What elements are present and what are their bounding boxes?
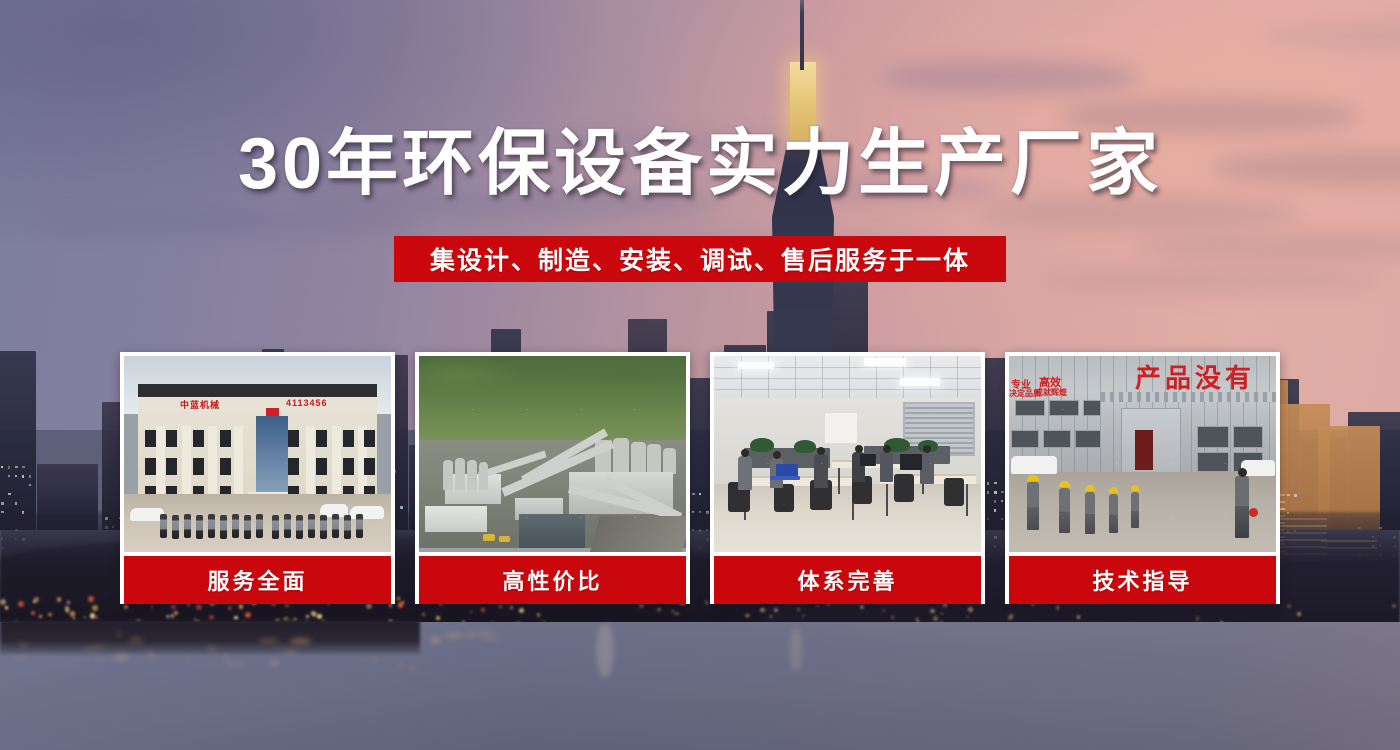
hq-sign-text: 中蓝机械: [180, 398, 220, 411]
feature-card[interactable]: 体系完善: [710, 352, 985, 604]
company-headquarters-photo: 中蓝机械 4113456: [124, 356, 391, 552]
hq-phone-text: 4113456: [286, 398, 328, 408]
production-plant-aerial-photo: [419, 356, 686, 552]
office-interior-photo: [714, 356, 981, 552]
feature-card-caption-text: 服务全面: [207, 564, 307, 596]
tower-antenna: [800, 0, 804, 70]
feature-card-caption: 技术指导: [1009, 556, 1276, 604]
feature-card-caption: 服务全面: [124, 556, 391, 604]
factory-slogan-mid-sub: 成就辉煌: [1035, 387, 1067, 398]
feature-card-caption-text: 体系完善: [797, 564, 897, 596]
feature-card-caption: 高性价比: [419, 556, 686, 604]
feature-card[interactable]: 高性价比: [415, 352, 690, 604]
hero-banner: 30年环保设备实力生产厂家 集设计、制造、安装、调试、售后服务于一体 中蓝机械 …: [0, 0, 1400, 750]
feature-card-list: 中蓝机械 4113456 服务全面: [120, 352, 1280, 604]
workshop-team-briefing-photo: 产品没有 专业 决定品质 高效 成就辉煌: [1009, 356, 1276, 552]
feature-card-caption: 体系完善: [714, 556, 981, 604]
page-title: 30年环保设备实力生产厂家: [0, 128, 1400, 200]
feature-card-caption-text: 高性价比: [502, 564, 602, 596]
subtitle-text: 集设计、制造、安装、调试、售后服务于一体: [430, 241, 970, 277]
flag-icon: [266, 408, 279, 416]
factory-headline-text: 产品没有: [1135, 358, 1255, 395]
feature-card-caption-text: 技术指导: [1092, 564, 1192, 596]
feature-card[interactable]: 中蓝机械 4113456 服务全面: [120, 352, 395, 604]
feature-card[interactable]: 产品没有 专业 决定品质 高效 成就辉煌 技术指导: [1005, 352, 1280, 604]
subtitle-banner: 集设计、制造、安装、调试、售后服务于一体: [394, 236, 1006, 282]
